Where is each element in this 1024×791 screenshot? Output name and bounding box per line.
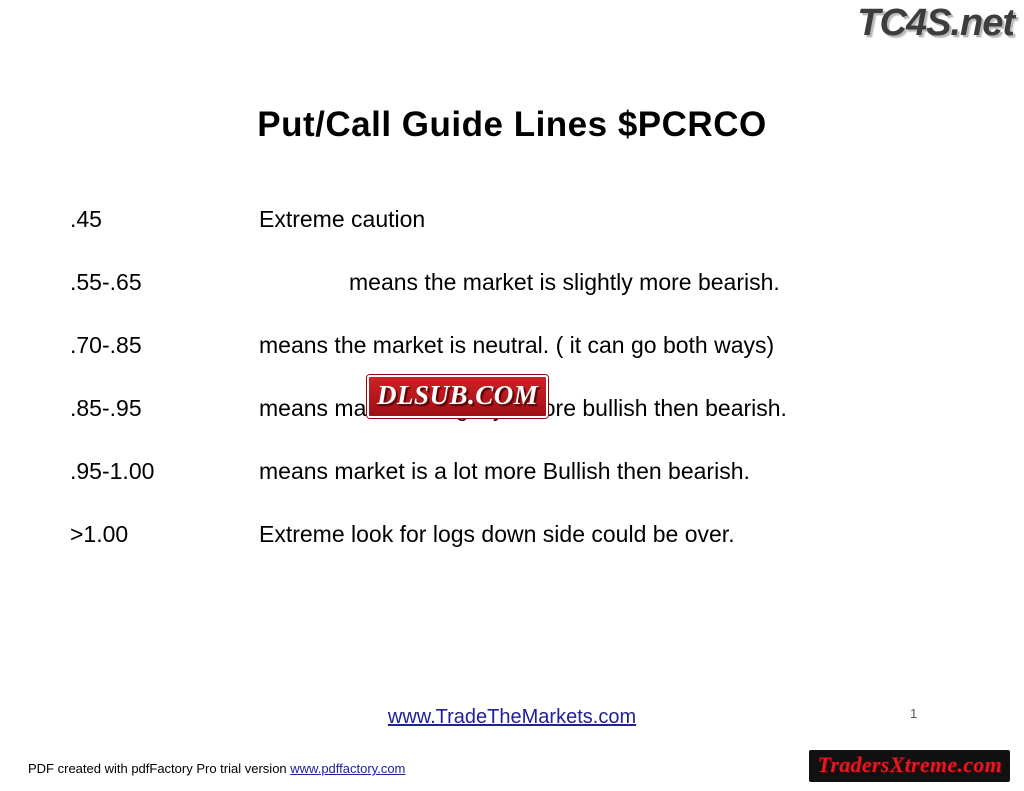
list-item: .45Extreme caution [70, 204, 970, 234]
guide-line-description: means the market is neutral. ( it can go… [259, 332, 774, 358]
guide-line-description: Extreme look for logs down side could be… [259, 521, 735, 547]
list-item: .55-.65means the market is slightly more… [70, 267, 970, 297]
trade-the-markets-link[interactable]: www.TradeTheMarkets.com [388, 706, 636, 728]
pdffactory-link[interactable]: www.pdffactory.com [290, 761, 405, 776]
pdf-factory-note-text: PDF created with pdfFactory Pro trial ve… [28, 761, 290, 776]
page-number: 1 [910, 706, 917, 721]
guide-line-range: .55-.65 [70, 267, 259, 297]
list-item: >1.00Extreme look for logs down side cou… [70, 519, 970, 549]
brand-logo-bottom-right-text: TradersXtreme.com [817, 752, 1002, 777]
guide-line-range: >1.00 [70, 519, 259, 549]
guide-line-range: .70-.85 [70, 330, 259, 360]
list-item: .70-.85means the market is neutral. ( it… [70, 330, 970, 360]
brand-logo-top-right: TC4S.net [857, 2, 1014, 45]
footer-site-link-container: www.TradeTheMarkets.com [0, 706, 1024, 729]
guide-line-range: .85-.95 [70, 393, 259, 423]
guide-line-description: Extreme caution [259, 206, 425, 232]
guide-line-description: means the market is slightly more bearis… [259, 269, 780, 295]
guide-line-description: means market is a lot more Bullish then … [259, 458, 750, 484]
watermark-text: DLSUB.COM [377, 380, 538, 410]
brand-logo-bottom-right: TradersXtreme.com [807, 748, 1012, 784]
pdf-factory-note: PDF created with pdfFactory Pro trial ve… [28, 761, 405, 776]
list-item: .95-1.00means market is a lot more Bulli… [70, 456, 970, 486]
watermark-badge: DLSUB.COM [367, 375, 548, 418]
page-title: Put/Call Guide Lines $PCRCO [0, 105, 1024, 145]
guide-line-range: .45 [70, 204, 259, 234]
guide-line-range: .95-1.00 [70, 456, 259, 486]
